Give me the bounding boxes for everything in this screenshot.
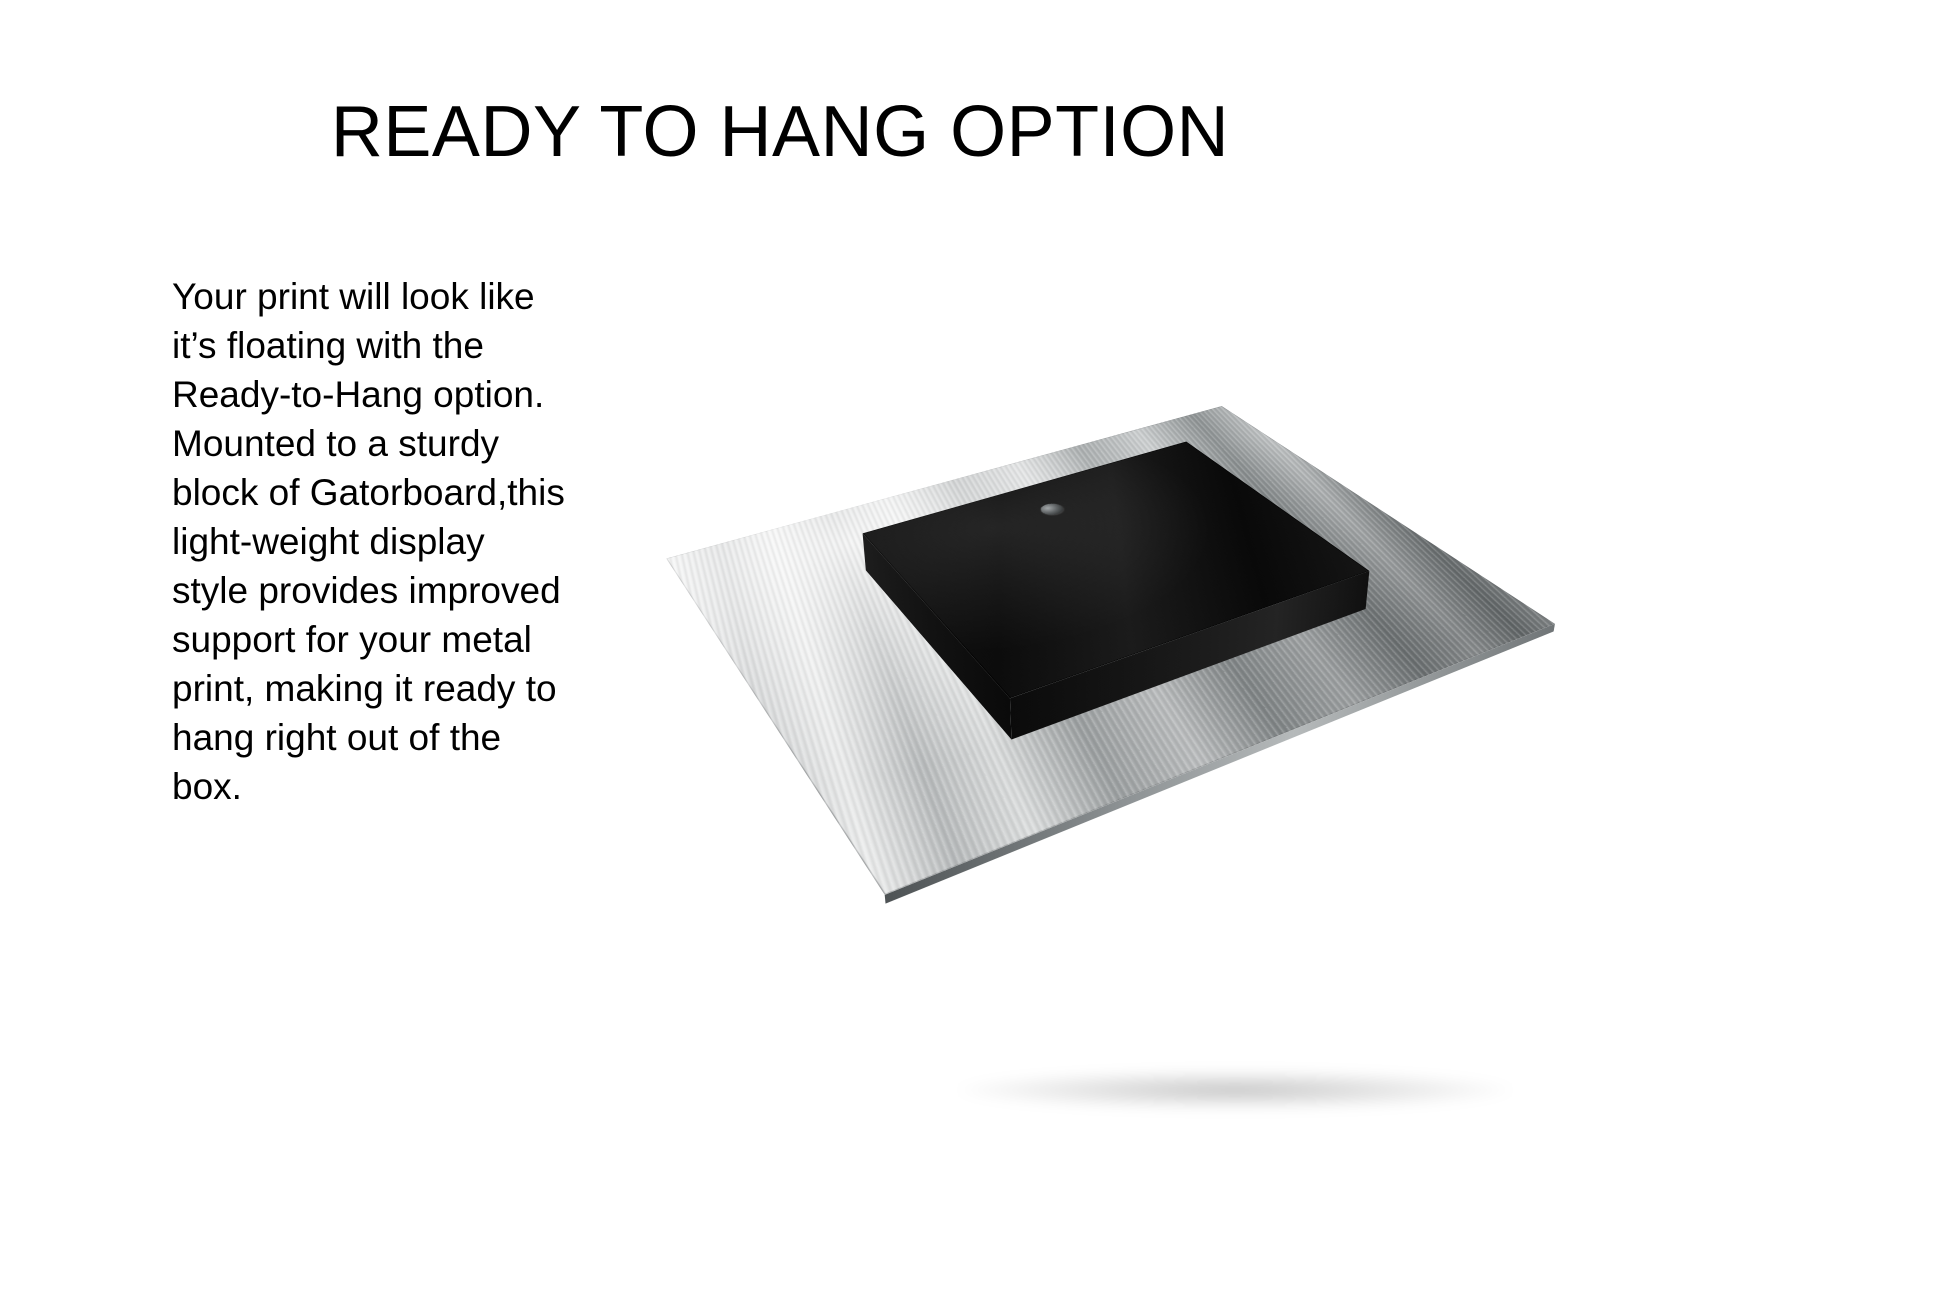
body-line: print, making it ready to [172, 664, 612, 713]
body-line: block of Gatorboard,this [172, 468, 612, 517]
slide-canvas: READY TO HANG OPTION Your print will loo… [0, 0, 1946, 1297]
body-line: Mounted to a sturdy [172, 419, 612, 468]
metal-plate-assembly [666, 406, 1555, 895]
page-title: READY TO HANG OPTION [0, 96, 1560, 168]
body-copy-block: Your print will look like it’s floating … [172, 272, 612, 811]
product-image [690, 370, 1520, 820]
body-line: light-weight display [172, 517, 612, 566]
body-line: style provides improved [172, 566, 612, 615]
body-line: box. [172, 762, 612, 811]
product-scene [690, 370, 1520, 820]
plate-drop-shadow [955, 1070, 1515, 1110]
body-line: support for your metal [172, 615, 612, 664]
body-line: hang right out of the [172, 713, 612, 762]
body-line: Your print will look like [172, 272, 612, 321]
hanging-hole-icon [1037, 502, 1067, 517]
body-line: Ready-to-Hang option. [172, 370, 612, 419]
body-line: it’s floating with the [172, 321, 612, 370]
